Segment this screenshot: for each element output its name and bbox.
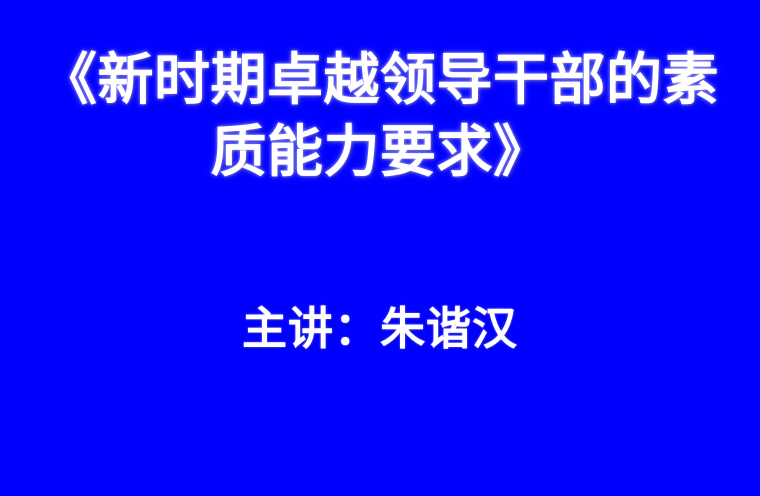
slide-title: 《新时期卓越领导干部的素质能力要求》	[24, 44, 736, 187]
slide-presenter-block: 主讲：朱谐汉	[0, 300, 760, 359]
slide-title-block: 《新时期卓越领导干部的素质能力要求》	[0, 44, 760, 187]
presenter-name: 主讲：朱谐汉	[24, 300, 736, 359]
presentation-slide: 《新时期卓越领导干部的素质能力要求》 主讲：朱谐汉	[0, 0, 760, 496]
